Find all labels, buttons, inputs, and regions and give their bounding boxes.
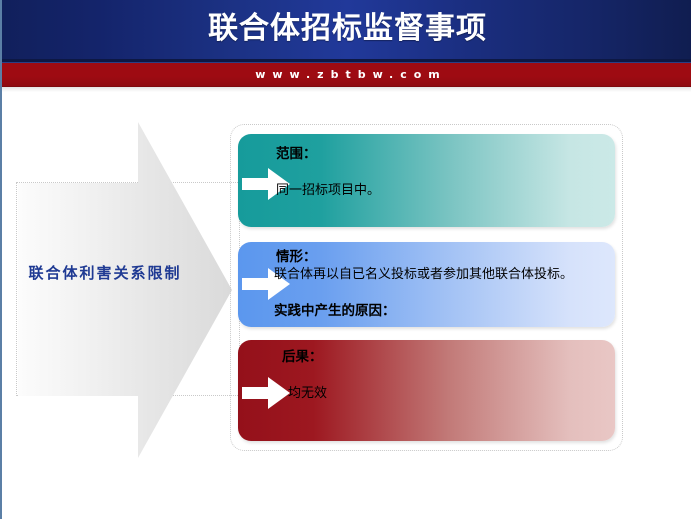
- card-scope-body: 同一招标项目中。: [276, 182, 380, 199]
- arrow-label: 联合体利害关系限制: [10, 262, 200, 283]
- card-situation-body: 联合体再以自已名义投标或者参加其他联合体投标。: [274, 266, 604, 283]
- header-shadow: [2, 86, 691, 92]
- page-title: 联合体招标监督事项: [2, 0, 691, 62]
- card-consequence-body: 均无效: [288, 385, 327, 402]
- white-arrow-icon: [238, 373, 294, 413]
- card-scope-title: 范围：: [276, 146, 317, 163]
- slide-canvas: 联合体招标监督事项 www.zbtbw.com 联合体利害关系限制 范围： 同一…: [0, 0, 691, 519]
- card-consequence-title: 后果：: [282, 349, 323, 366]
- card-situation-subtitle: 实践中产生的原因：: [274, 303, 396, 320]
- site-url-label: www.zbtbw.com: [2, 62, 691, 86]
- right-arrow-shape[interactable]: [10, 122, 232, 458]
- card-situation-title: 情形：: [276, 249, 317, 266]
